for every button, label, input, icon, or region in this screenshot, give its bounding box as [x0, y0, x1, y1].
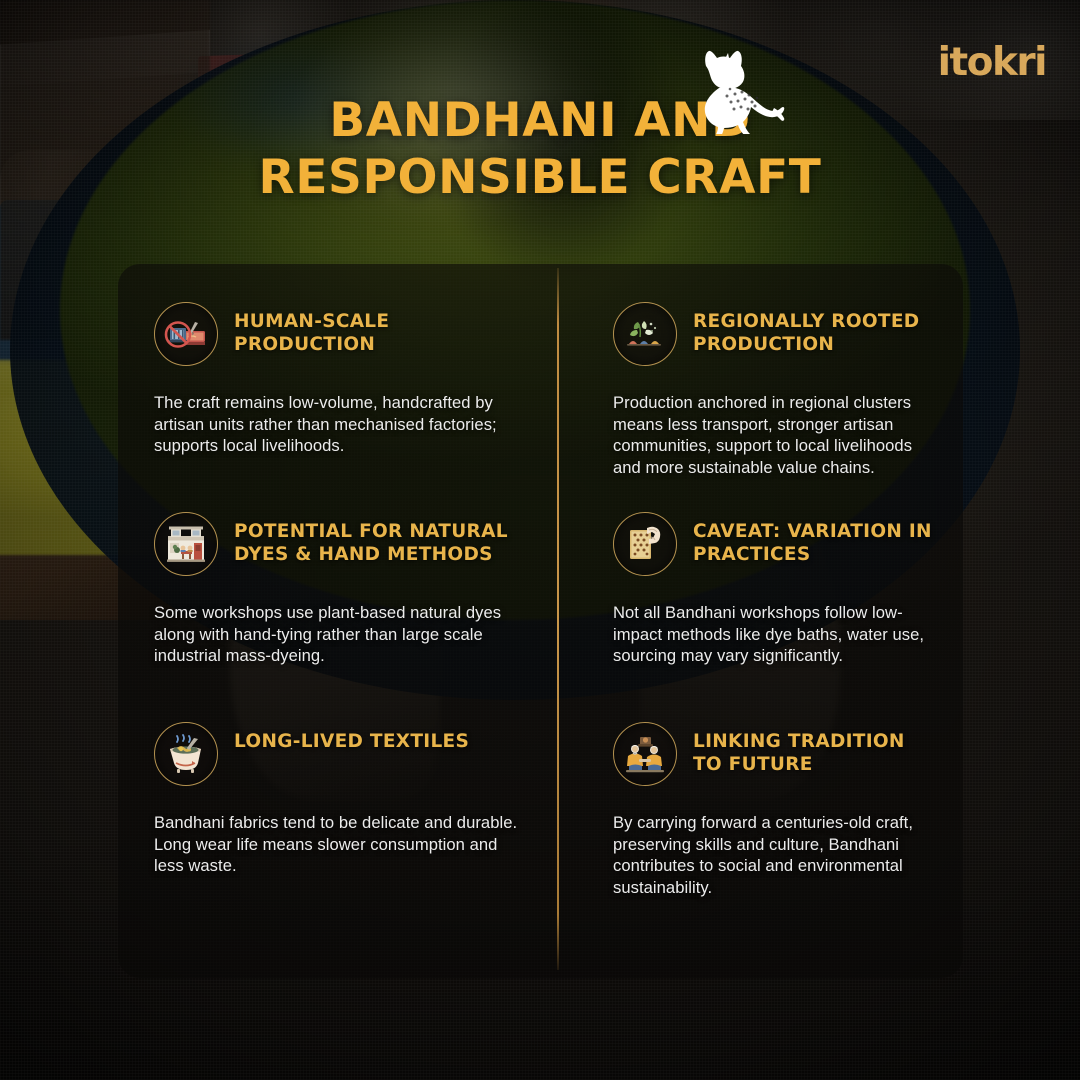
- card-title: HUMAN-SCALE PRODUCTION: [234, 302, 531, 356]
- title-line-2: RESPONSIBLE CRAFT: [0, 149, 1080, 206]
- card-title: CAVEAT: VARIATION IN PRACTICES: [693, 512, 939, 566]
- card-header: LONG-LIVED TEXTILES: [154, 722, 531, 786]
- brand-logo[interactable]: itokri: [938, 40, 1046, 85]
- card-header: POTENTIAL FOR NATURAL DYES & HAND METHOD…: [154, 512, 531, 576]
- feature-grid: HUMAN-SCALE PRODUCTION The craft remains…: [118, 264, 963, 978]
- card-body: By carrying forward a centuries-old craf…: [613, 812, 939, 898]
- card-body: Not all Bandhani workshops follow low-im…: [613, 602, 939, 667]
- feature-card-caveat-variation-in-practices: CAVEAT: VARIATION IN PRACTICES Not all B…: [557, 474, 963, 684]
- title-line-1: BANDHANI AND: [0, 92, 1080, 149]
- card-header: HUMAN-SCALE PRODUCTION: [154, 302, 531, 366]
- card-title: LONG-LIVED TEXTILES: [234, 722, 469, 754]
- card-body: Bandhani fabrics tend to be delicate and…: [154, 812, 531, 877]
- card-body: The craft remains low-volume, handcrafte…: [154, 392, 531, 457]
- two-artisans-weaving-icon: [613, 722, 677, 786]
- steaming-dye-pot-icon: [154, 722, 218, 786]
- bandhani-cat-silhouette-icon: [686, 48, 794, 134]
- card-header: LINKING TRADITION TO FUTURE: [613, 722, 939, 786]
- card-body: Production anchored in regional clusters…: [613, 392, 939, 478]
- card-header: REGIONALLY ROOTED PRODUCTION: [613, 302, 939, 366]
- card-title: POTENTIAL FOR NATURAL DYES & HAND METHOD…: [234, 512, 531, 566]
- artisan-workshop-building-icon: [154, 512, 218, 576]
- feature-card-regionally-rooted-production: REGIONALLY ROOTED PRODUCTION Production …: [557, 264, 963, 474]
- page-title: BANDHANI AND RESPONSIBLE CRAFT: [0, 92, 1080, 207]
- feature-card-human-scale-production: HUMAN-SCALE PRODUCTION The craft remains…: [118, 264, 557, 474]
- card-header: CAVEAT: VARIATION IN PRACTICES: [613, 512, 939, 576]
- hand-holding-patterned-fabric-icon: [613, 512, 677, 576]
- feature-card-natural-dyes-hand-methods: POTENTIAL FOR NATURAL DYES & HAND METHOD…: [118, 474, 557, 684]
- card-title: LINKING TRADITION TO FUTURE: [693, 722, 939, 776]
- card-title: REGIONALLY ROOTED PRODUCTION: [693, 302, 939, 356]
- infographic-canvas: itokri BANDHANI AND RESPONSIBLE CRAFT: [0, 0, 1080, 1080]
- sprouting-seeds-icon: [613, 302, 677, 366]
- card-body: Some workshops use plant-based natural d…: [154, 602, 531, 667]
- feature-card-linking-tradition-to-future: LINKING TRADITION TO FUTURE By carrying …: [557, 684, 963, 978]
- no-machine-factory-icon: [154, 302, 218, 366]
- feature-card-long-lived-textiles: LONG-LIVED TEXTILES Bandhani fabrics ten…: [118, 684, 557, 978]
- brand-logo-text: itokri: [938, 40, 1046, 85]
